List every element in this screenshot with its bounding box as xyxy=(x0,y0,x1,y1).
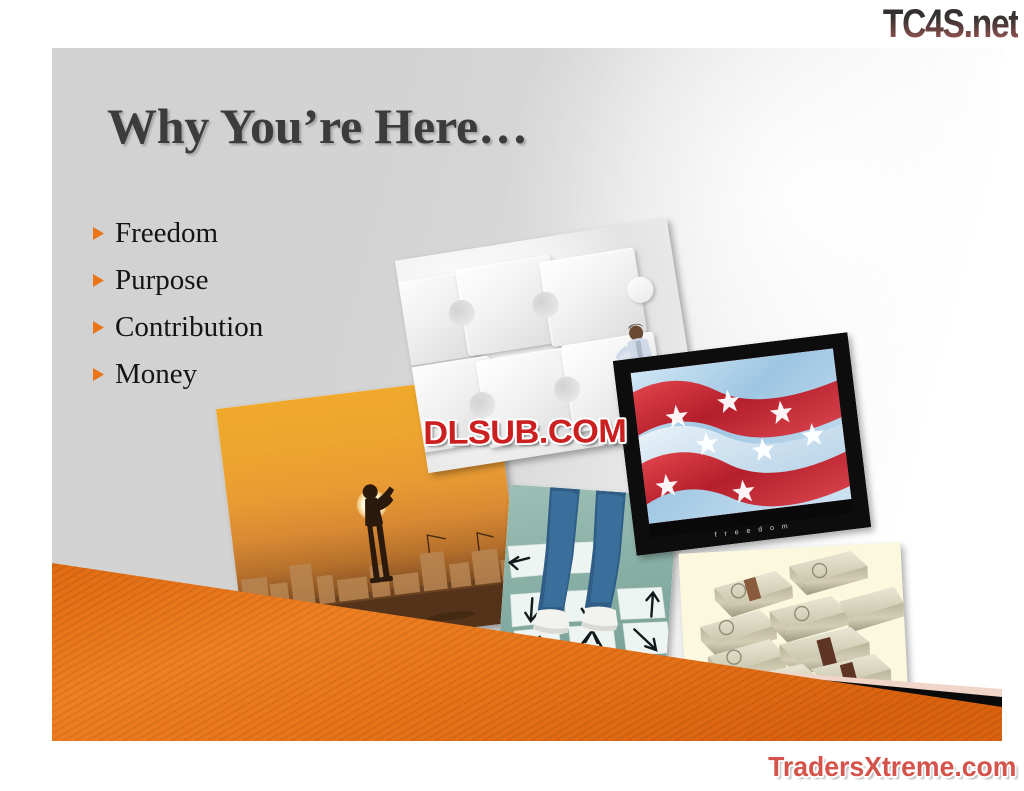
triangle-right-icon xyxy=(85,226,111,241)
bullet-label: Money xyxy=(111,360,197,389)
triangle-right-icon xyxy=(85,320,111,335)
bullet-label: Freedom xyxy=(111,219,218,248)
bullet-label: Purpose xyxy=(111,266,208,295)
tradersxtreme-watermark: TradersXtreme.com xyxy=(768,751,1016,783)
presentation-slide: Why You’re Here… Freedom Purpose xyxy=(52,48,1002,741)
triangle-right-icon xyxy=(85,367,111,382)
bullet-item-freedom: Freedom xyxy=(85,210,505,257)
flag-photo: f r e e d o m xyxy=(613,332,871,555)
money-stacks xyxy=(678,542,909,731)
money-photo xyxy=(678,542,909,731)
slide-page: Why You’re Here… Freedom Purpose xyxy=(0,0,1024,791)
tc4s-logo-watermark: TC4S.net xyxy=(882,2,1018,47)
triangle-right-icon xyxy=(85,273,111,288)
flag-image xyxy=(631,348,852,524)
slide-title: Why You’re Here… xyxy=(107,100,528,153)
bullet-label: Contribution xyxy=(111,313,263,342)
dlsub-watermark: DLSUB.COM xyxy=(423,412,627,452)
